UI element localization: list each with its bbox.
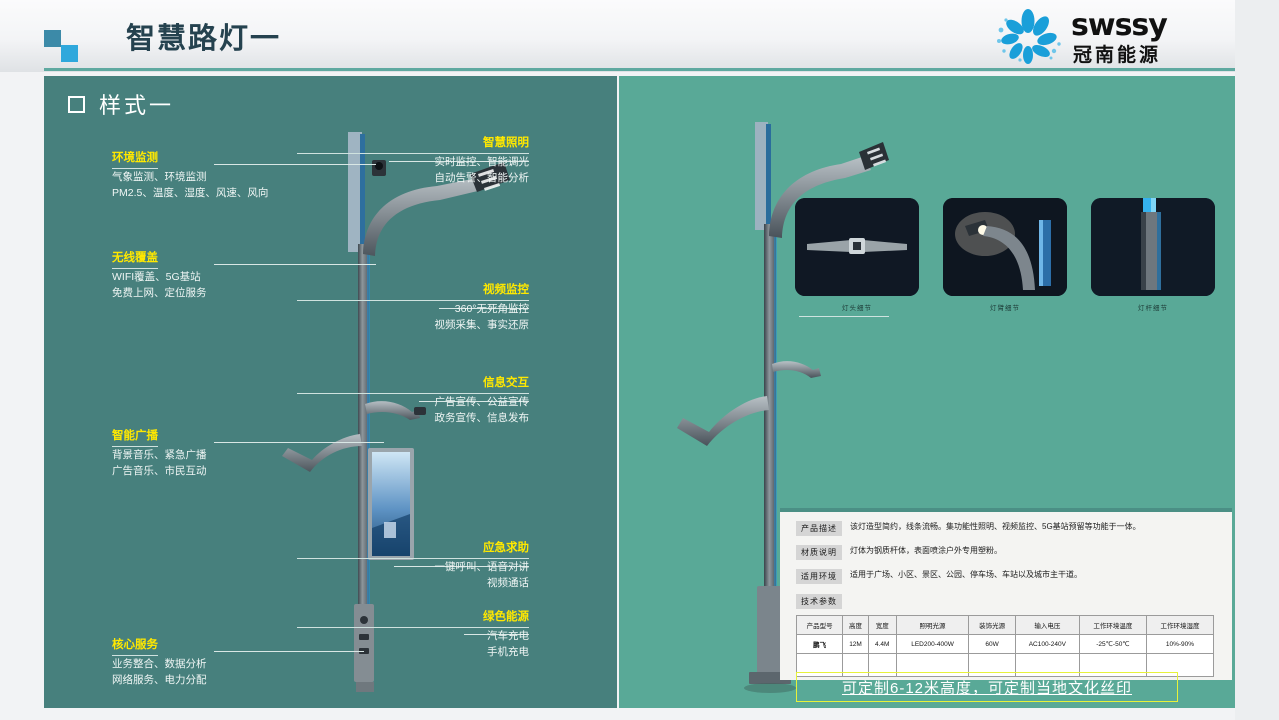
callout-title: 应急求助 [297, 541, 529, 559]
callout-emergency-help[interactable]: 应急求助 一键呼叫、语音对讲 视频通话 [297, 541, 529, 591]
table-cell: AC100-240V [1015, 635, 1079, 654]
callout-line: 网络服务、电力分配 [112, 672, 344, 688]
lamp-head-detail-photo[interactable]: 灯头细节 [795, 198, 919, 312]
callout-title: 智慧照明 [297, 136, 529, 154]
callout-smart-lighting[interactable]: 智慧照明 实时监控、智能调光 自动告警、智能分析 [297, 136, 529, 186]
table-cell: 60W [969, 635, 1015, 654]
callout-line: 一键呼叫、语音对讲 [297, 559, 529, 575]
callout-line: 政务宣传、信息发布 [297, 410, 529, 426]
table-cell: 10%-90% [1146, 635, 1213, 654]
table-header-cell: 工作环境温度 [1079, 616, 1146, 635]
callout-title: 信息交互 [297, 376, 529, 394]
slide-right-margin [1235, 0, 1279, 720]
customization-banner[interactable]: 可定制6-12米高度，可定制当地文化丝印 [796, 672, 1178, 702]
photo-underline [799, 316, 889, 317]
callout-green-energy[interactable]: 绿色能源 汽车充电 手机充电 [297, 610, 529, 660]
callout-title: 无线覆盖 [112, 251, 158, 269]
callout-title: 绿色能源 [297, 610, 529, 628]
lamp-arm-detail-photo[interactable]: 灯臂细节 [943, 198, 1067, 312]
callout-line: 广告宣传、公益宣传 [297, 394, 529, 410]
slide: 智慧路灯一 [0, 0, 1279, 720]
slide-header: 智慧路灯一 [0, 0, 1279, 72]
table-header-cell: 产品型号 [797, 616, 843, 635]
company-logo: swssy 冠南能源 [991, 4, 1261, 68]
page-title: 智慧路灯一 [126, 22, 281, 56]
spec-row-product-description: 产品描述 该灯造型简约，线条流畅。集功能性照明、视频监控、5G基站预留等功能于一… [796, 521, 1232, 536]
callout-smart-broadcast[interactable]: 智能广播 背景音乐、紧急广播 广告音乐、市民互动 [112, 426, 344, 479]
table-header-row: 产品型号 高度 宽度 照明光源 装饰光源 输入电压 工作环境温度 工作环境湿度 [797, 616, 1214, 635]
callout-line: PM2.5、温度、湿度、风速、风向 [112, 185, 344, 201]
table-cell: LED200-400W [896, 635, 969, 654]
callout-line: 自动告警、智能分析 [297, 170, 529, 186]
callout-line: 汽车充电 [297, 628, 529, 644]
lamp-pole-detail-photo[interactable]: 灯杆细节 [1091, 198, 1215, 312]
spec-value: 灯体为钢质杆体，表面喷涂户外专用塑粉。 [850, 545, 1002, 557]
header-divider [44, 68, 1235, 71]
callout-line: 背景音乐、紧急广播 [112, 447, 344, 463]
table-cell: 鹏飞 [797, 635, 843, 654]
right-panel: 灯头细节 灯臂细节 [619, 76, 1235, 708]
table-cell: 4.4M [868, 635, 896, 654]
table-cell: -25℃-50℃ [1079, 635, 1146, 654]
spec-row-material: 材质说明 灯体为钢质杆体，表面喷涂户外专用塑粉。 [796, 545, 1232, 560]
header-square-blue-icon [61, 45, 78, 62]
photo-frame [795, 198, 919, 296]
table-cell: 12M [843, 635, 869, 654]
square-bullet-icon [68, 96, 85, 113]
callout-line: 视频采集、事实还原 [297, 317, 529, 333]
spec-tag: 适用环境 [796, 569, 842, 584]
callout-line: 广告音乐、市民互动 [112, 463, 344, 479]
spec-tag: 材质说明 [796, 545, 842, 560]
spec-value: 该灯造型简约，线条流畅。集功能性照明、视频监控、5G基站预留等功能于一体。 [850, 521, 1141, 533]
spec-value: 适用于广场、小区、景区、公园、停车场、车站以及城市主干道。 [850, 569, 1082, 581]
callout-title: 环境监测 [112, 151, 158, 169]
logo-subtitle: 冠南能源 [1073, 40, 1161, 67]
spec-card: 产品描述 该灯造型简约，线条流畅。集功能性照明、视频监控、5G基站预留等功能于一… [780, 508, 1232, 680]
callout-information-interaction[interactable]: 信息交互 广告宣传、公益宣传 政务宣传、信息发布 [297, 376, 529, 426]
logo-wordmark: swssy [1071, 8, 1167, 43]
table-row: 鹏飞 12M 4.4M LED200-400W 60W AC100-240V -… [797, 635, 1214, 654]
detail-photo-row: 灯头细节 灯臂细节 [795, 198, 1215, 312]
table-header-cell: 输入电压 [1015, 616, 1079, 635]
customization-banner-text: 可定制6-12米高度，可定制当地文化丝印 [842, 677, 1132, 698]
table-header-cell: 工作环境湿度 [1146, 616, 1213, 635]
photo-caption: 灯头细节 [795, 302, 919, 312]
section-heading: 样式一 [68, 88, 174, 120]
section-title: 样式一 [99, 88, 174, 120]
spec-row-environment: 适用环境 适用于广场、小区、景区、公园、停车场、车站以及城市主干道。 [796, 569, 1232, 584]
technical-parameters-table: 产品型号 高度 宽度 照明光源 装饰光源 输入电压 工作环境温度 工作环境湿度 … [796, 615, 1214, 677]
callout-line: 360°无死角监控 [297, 301, 529, 317]
callout-line: 实时监控、智能调光 [297, 154, 529, 170]
photo-frame [943, 198, 1067, 296]
callout-line: 手机充电 [297, 644, 529, 660]
spec-tag: 产品描述 [796, 521, 842, 536]
left-panel: 样式一 [44, 76, 617, 708]
water-droplet-flower-icon [991, 8, 1065, 64]
header-square-dark-icon [44, 30, 61, 47]
spec-tag-technical-parameters: 技术参数 [796, 594, 842, 609]
callout-line: 视频通话 [297, 575, 529, 591]
table-header-cell: 装饰光源 [969, 616, 1015, 635]
photo-frame [1091, 198, 1215, 296]
callout-title: 智能广播 [112, 429, 158, 447]
callout-video-surveillance[interactable]: 视频监控 360°无死角监控 视频采集、事实还原 [297, 283, 529, 333]
photo-caption: 灯臂细节 [943, 302, 1067, 312]
table-header-cell: 照明光源 [896, 616, 969, 635]
table-header-cell: 高度 [843, 616, 869, 635]
callout-title: 视频监控 [297, 283, 529, 301]
callout-title: 核心服务 [112, 638, 158, 656]
photo-caption: 灯杆细节 [1091, 302, 1215, 312]
table-header-cell: 宽度 [868, 616, 896, 635]
